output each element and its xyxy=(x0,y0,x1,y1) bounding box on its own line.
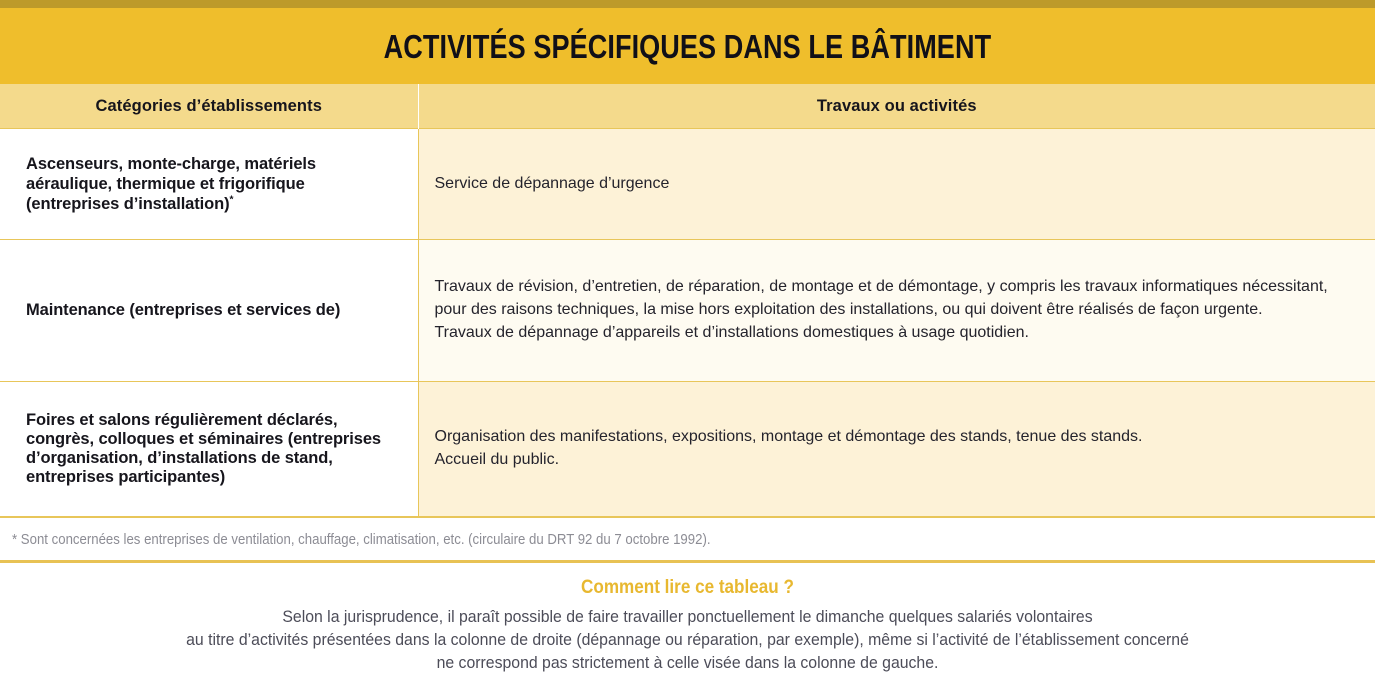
title-band: ACTIVITÉS SPÉCIFIQUES DANS LE BÂTIMENT xyxy=(0,8,1375,84)
category-text: Foires et salons régulièrement déclarés,… xyxy=(26,411,381,485)
note-line: ne correspond pas strictement à celle vi… xyxy=(48,652,1327,674)
activity-line: Organisation des manifestations, exposit… xyxy=(435,426,1358,449)
how-to-read-heading: Comment lire ce tableau ? xyxy=(69,577,1307,599)
cell-category: Foires et salons régulièrement déclarés,… xyxy=(0,382,418,517)
table-row: Foires et salons régulièrement déclarés,… xyxy=(0,382,1375,517)
category-text: Maintenance (entreprises et services de) xyxy=(26,301,340,319)
cell-activities: Travaux de révision, d’entretien, de rép… xyxy=(418,240,1375,382)
cell-activities: Service de dépannage d’urgence xyxy=(418,129,1375,240)
cell-category: Ascenseurs, monte-charge, matériels aéra… xyxy=(0,129,418,240)
activity-line: Travaux de révision, d’entretien, de rép… xyxy=(435,276,1358,321)
note-line: au titre d’activités présentées dans la … xyxy=(48,629,1327,652)
activities-table: Catégories d’établissements Travaux ou a… xyxy=(0,84,1375,516)
top-accent-rule xyxy=(0,0,1375,8)
footnote-text: * Sont concernées les entreprises de ven… xyxy=(12,531,711,548)
footnote-marker: * xyxy=(230,195,234,206)
footnote-area: * Sont concernées les entreprises de ven… xyxy=(0,516,1375,560)
table-row: Ascenseurs, monte-charge, matériels aéra… xyxy=(0,129,1375,240)
infographic-sheet: ACTIVITÉS SPÉCIFIQUES DANS LE BÂTIMENT C… xyxy=(0,0,1375,632)
cell-category: Maintenance (entreprises et services de) xyxy=(0,240,418,382)
column-header-activities: Travaux ou activités xyxy=(418,84,1375,129)
activity-line: Accueil du public. xyxy=(435,449,1358,472)
how-to-read-paragraph: Selon la jurisprudence, il paraît possib… xyxy=(48,606,1327,674)
activity-line: Service de dépannage d’urgence xyxy=(435,173,1358,196)
how-to-read-note: Comment lire ce tableau ? Selon la juris… xyxy=(0,563,1375,674)
cell-activities: Organisation des manifestations, exposit… xyxy=(418,382,1375,517)
activity-line: Travaux de dépannage d’appareils et d’in… xyxy=(435,322,1358,345)
page-title: ACTIVITÉS SPÉCIFIQUES DANS LE BÂTIMENT xyxy=(384,30,992,63)
column-header-categories: Catégories d’établissements xyxy=(0,84,418,129)
table-row: Maintenance (entreprises et services de)… xyxy=(0,240,1375,382)
category-text: Ascenseurs, monte-charge, matériels aéra… xyxy=(26,155,316,213)
note-line: Selon la jurisprudence, il paraît possib… xyxy=(48,606,1327,629)
table-header-row: Catégories d’établissements Travaux ou a… xyxy=(0,84,1375,129)
